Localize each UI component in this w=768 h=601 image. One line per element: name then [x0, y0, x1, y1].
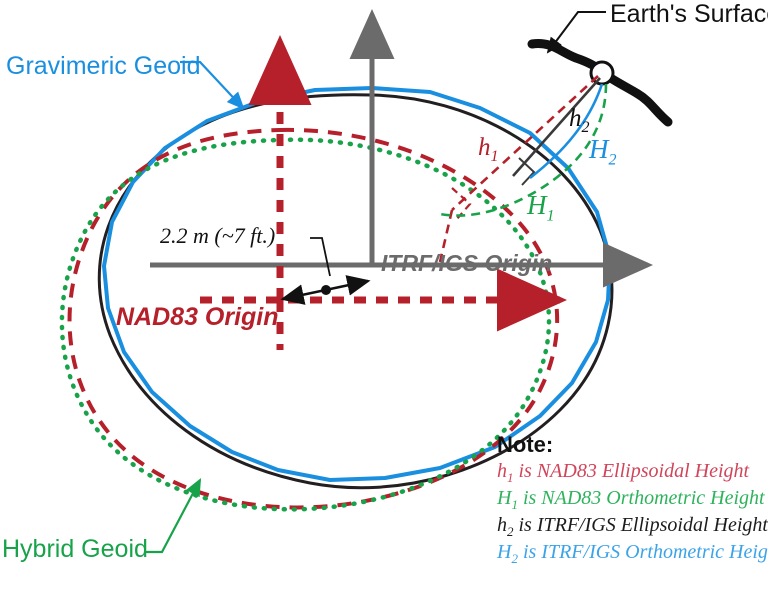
earth-surface-line [532, 43, 668, 122]
hybrid-geoid-label: Hybrid Geoid [2, 535, 148, 564]
note-line: H2 is ITRF/IGS Orthometric Height [497, 540, 768, 567]
h2-label: h2 [569, 105, 590, 137]
H2-subscript: 2 [609, 151, 617, 168]
note-line: h2 is ITRF/IGS Ellipsoidal Height [497, 513, 768, 540]
note-text: is ITRF/IGS Orthometric Height [518, 541, 768, 563]
note-lines: h1 is NAD83 Ellipsoidal HeightH1 is NAD8… [497, 459, 768, 566]
note-text: is ITRF/IGS Ellipsoidal Height [514, 514, 768, 536]
h1-subscript: 1 [491, 148, 499, 165]
note-text: is NAD83 Ellipsoidal Height [514, 460, 750, 482]
h1-label: h1 [478, 134, 499, 166]
gravimetric-geoid-label: Gravimeric Geoid [6, 52, 201, 81]
note-symbol: h [497, 514, 507, 536]
H1-subscript: 1 [547, 207, 555, 224]
note-block: Note: h1 is NAD83 Ellipsoidal HeightH1 i… [497, 432, 768, 566]
H1-label: H1 [527, 190, 555, 225]
H2-label: H2 [589, 134, 617, 169]
h2-symbol: h [569, 105, 582, 132]
note-title: Note: [497, 432, 768, 458]
origin-offset-arrow [283, 238, 368, 299]
earth-surface-label: Earth's Surface [610, 0, 768, 29]
hybrid-leader [145, 480, 200, 552]
H1-symbol: H [527, 190, 547, 220]
H2-symbol: H [589, 134, 609, 164]
note-text: is NAD83 Orthometric Height [518, 487, 765, 509]
nad83-origin-label: NAD83 Origin [116, 303, 279, 332]
offset-distance-label: 2.2 m (~7 ft.) [160, 223, 275, 249]
itrf-origin-label: ITRF/IGS Origin [381, 250, 552, 277]
itrf-ellipsoid-curve [99, 95, 612, 488]
note-symbol: H [497, 541, 511, 563]
note-line: h1 is NAD83 Ellipsoidal Height [497, 459, 768, 486]
note-symbol: H [497, 487, 511, 509]
note-line: H1 is NAD83 Orthometric Height [497, 486, 768, 513]
h1-symbol: h [478, 134, 491, 161]
note-symbol: h [497, 460, 507, 482]
